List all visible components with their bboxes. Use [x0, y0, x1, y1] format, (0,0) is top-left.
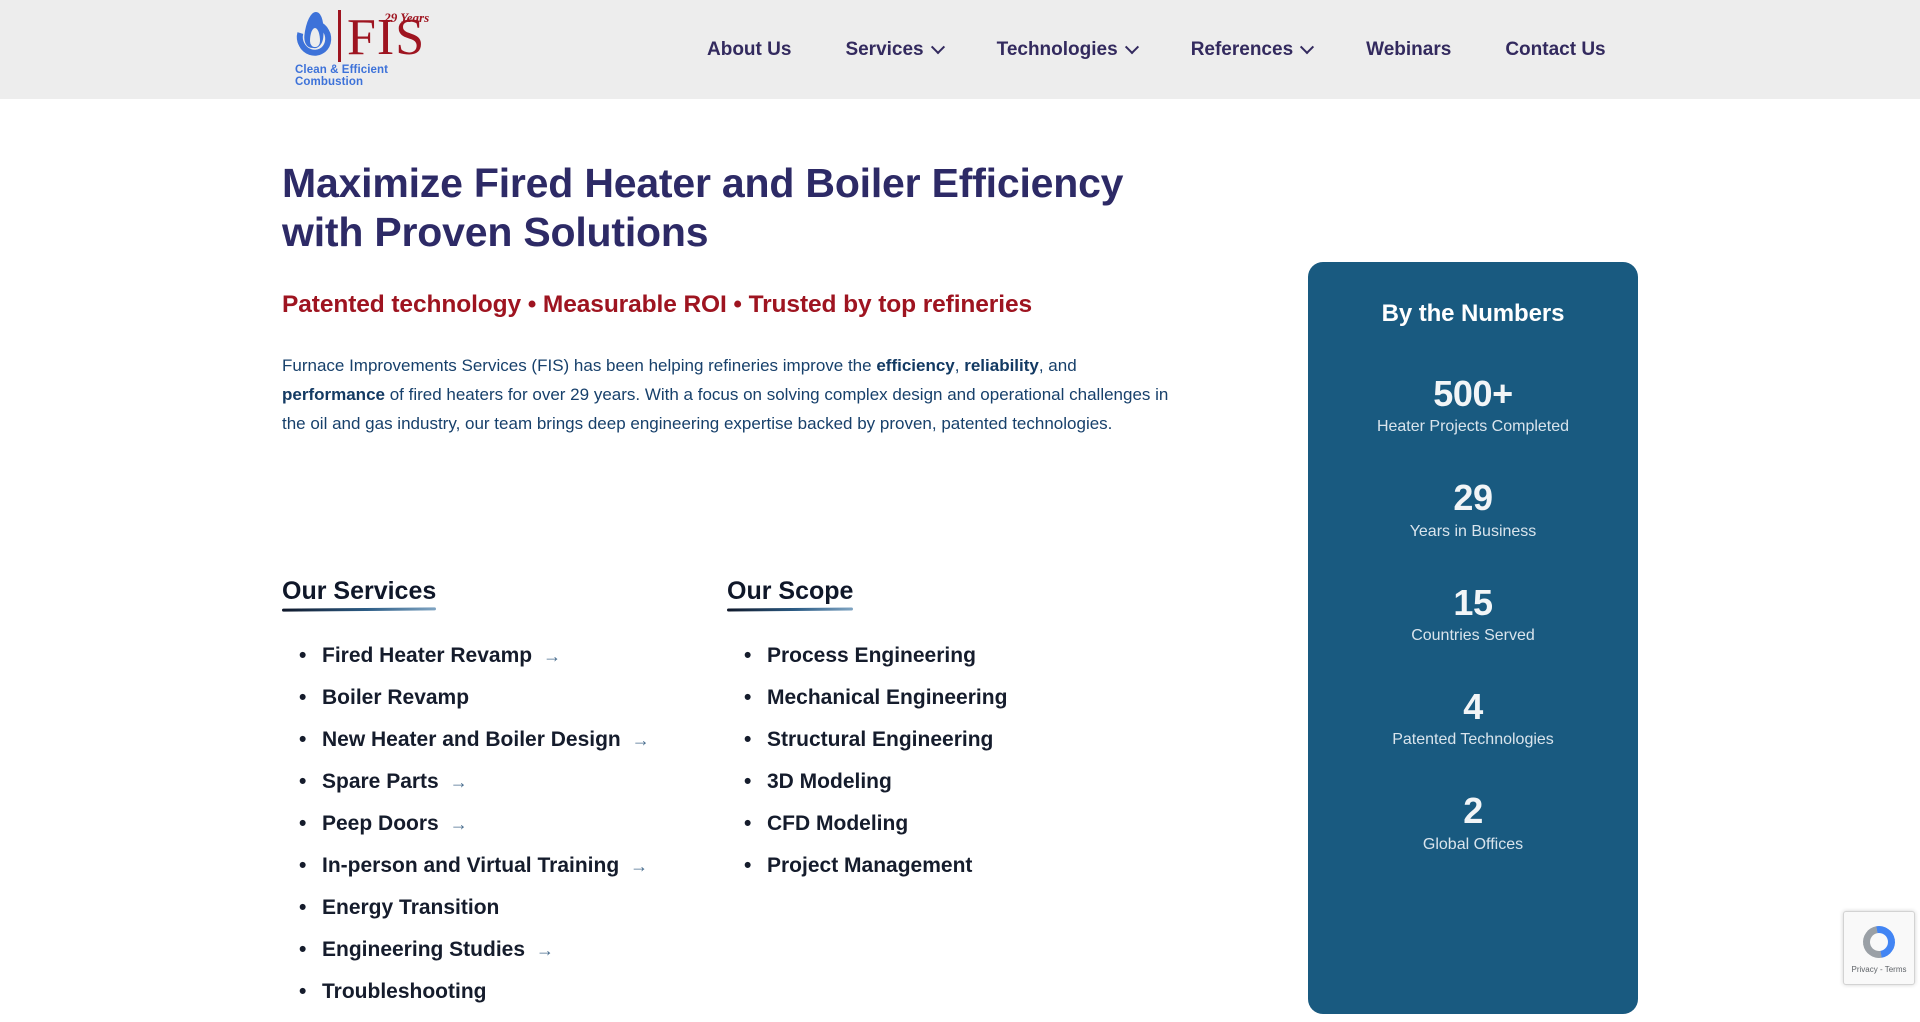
nav-label: References — [1191, 39, 1293, 61]
paragraph-text: , — [955, 356, 964, 375]
list-item: •Project Management — [744, 854, 1147, 878]
recaptcha-badge[interactable]: Privacy - Terms — [1843, 911, 1915, 985]
list-item: •Structural Engineering — [744, 728, 1147, 752]
lists-section: Our Services •Fired Heater Revamp→ •Boil… — [282, 577, 1182, 1022]
bullet-icon: • — [744, 729, 767, 750]
bullet-icon: • — [744, 687, 767, 708]
stat-global-offices: 2 Global Offices — [1328, 791, 1618, 853]
nav-label: Technologies — [997, 39, 1118, 61]
nav-item-contact-us[interactable]: Contact Us — [1478, 39, 1632, 61]
chevron-down-icon — [1300, 40, 1314, 54]
paragraph-text: of fired heaters for over 29 years. With… — [282, 385, 1168, 433]
arrow-right-icon: → — [536, 940, 554, 961]
paragraph-bold-performance: performance — [282, 385, 385, 404]
nav-label: Services — [845, 39, 923, 61]
bullet-icon: • — [744, 645, 767, 666]
bullet-icon: • — [299, 897, 322, 918]
stat-countries-served: 15 Countries Served — [1328, 583, 1618, 645]
paragraph-text: Furnace Improvements Services (FIS) has … — [282, 356, 876, 375]
bullet-icon: • — [299, 813, 322, 834]
nav-label: Contact Us — [1505, 39, 1605, 61]
list-item[interactable]: •Troubleshooting — [299, 980, 702, 1004]
list-item[interactable]: •Boiler Revamp — [299, 686, 702, 710]
list-item: •CFD Modeling — [744, 812, 1147, 836]
arrow-right-icon: → — [632, 730, 650, 751]
stat-label: Patented Technologies — [1328, 731, 1618, 749]
list-item-label: Project Management — [767, 854, 972, 878]
list-item[interactable]: •Energy Transition — [299, 896, 702, 920]
list-item-label: New Heater and Boiler Design — [322, 728, 621, 752]
list-item[interactable]: •Engineering Studies→ — [299, 938, 702, 962]
arrow-right-icon: → — [543, 646, 561, 667]
chevron-down-icon — [931, 40, 945, 54]
list-item[interactable]: •Fired Heater Revamp→ — [299, 644, 702, 668]
logo-divider — [338, 10, 341, 62]
stat-value: 2 — [1328, 791, 1618, 831]
list-item-label: Fired Heater Revamp — [322, 644, 532, 668]
scope-heading: Our Scope — [727, 577, 853, 611]
list-item: •Mechanical Engineering — [744, 686, 1147, 710]
stat-value: 4 — [1328, 687, 1618, 727]
stat-heater-projects: 500+ Heater Projects Completed — [1328, 374, 1618, 436]
main-navigation: About Us Services Technologies Reference… — [680, 0, 1633, 99]
paragraph-bold-reliability: reliability — [964, 356, 1039, 375]
recaptcha-privacy-terms[interactable]: Privacy - Terms — [1852, 965, 1907, 974]
nav-item-services[interactable]: Services — [818, 39, 969, 61]
list-item-label: Energy Transition — [322, 896, 499, 920]
nav-label: About Us — [707, 39, 791, 61]
paragraph-bold-efficiency: efficiency — [876, 356, 954, 375]
arrow-right-icon: → — [450, 814, 468, 835]
nav-item-technologies[interactable]: Technologies — [970, 39, 1164, 61]
bullet-icon: • — [299, 729, 322, 750]
stat-label: Heater Projects Completed — [1328, 418, 1618, 436]
page-title: Maximize Fired Heater and Boiler Efficie… — [282, 159, 1182, 257]
list-item-label: Spare Parts — [322, 770, 439, 794]
stat-label: Years in Business — [1328, 523, 1618, 541]
logo-mark: 29 Years FIS — [295, 8, 425, 62]
chevron-down-icon — [1125, 40, 1139, 54]
list-item-label: In-person and Virtual Training — [322, 854, 619, 878]
list-item[interactable]: •New Heater and Boiler Design→ — [299, 728, 702, 752]
list-item-label: Process Engineering — [767, 644, 976, 668]
list-item-label: Mechanical Engineering — [767, 686, 1007, 710]
arrow-right-icon: → — [630, 856, 648, 877]
list-item-label: CFD Modeling — [767, 812, 908, 836]
bullet-icon: • — [299, 687, 322, 708]
list-item-label: Structural Engineering — [767, 728, 993, 752]
list-item: •Process Engineering — [744, 644, 1147, 668]
nav-label: Webinars — [1366, 39, 1451, 61]
list-item-label: Boiler Revamp — [322, 686, 469, 710]
nav-item-about-us[interactable]: About Us — [680, 39, 818, 61]
services-heading: Our Services — [282, 577, 436, 611]
recaptcha-icon — [1861, 924, 1897, 960]
list-item[interactable]: •Peep Doors→ — [299, 812, 702, 836]
scope-list: •Process Engineering •Mechanical Enginee… — [744, 644, 1147, 878]
stats-card-title: By the Numbers — [1328, 300, 1618, 328]
stats-card: By the Numbers 500+ Heater Projects Comp… — [1308, 262, 1638, 1014]
stat-value: 15 — [1328, 583, 1618, 623]
list-item[interactable]: •In-person and Virtual Training→ — [299, 854, 702, 878]
stat-label: Countries Served — [1328, 627, 1618, 645]
nav-item-webinars[interactable]: Webinars — [1339, 39, 1478, 61]
stat-patented-technologies: 4 Patented Technologies — [1328, 687, 1618, 749]
hero-text-block: Maximize Fired Heater and Boiler Efficie… — [282, 159, 1182, 439]
services-column: Our Services •Fired Heater Revamp→ •Boil… — [282, 577, 702, 1022]
site-logo[interactable]: 29 Years FIS Clean & Efficient Combustio… — [295, 8, 430, 88]
list-item: •3D Modeling — [744, 770, 1147, 794]
scope-column: Our Scope •Process Engineering •Mechanic… — [727, 577, 1147, 1022]
bullet-icon: • — [299, 939, 322, 960]
list-item-label: Engineering Studies — [322, 938, 525, 962]
bullet-icon: • — [299, 981, 322, 1002]
bullet-icon: • — [744, 813, 767, 834]
nav-item-references[interactable]: References — [1164, 39, 1339, 61]
list-item-label: Troubleshooting — [322, 980, 486, 1004]
stat-value: 500+ — [1328, 374, 1618, 414]
list-item[interactable]: •Spare Parts→ — [299, 770, 702, 794]
arrow-right-icon: → — [450, 772, 468, 793]
bullet-icon: • — [744, 771, 767, 792]
stat-value: 29 — [1328, 478, 1618, 518]
paragraph-text: , and — [1039, 356, 1077, 375]
bullet-icon: • — [744, 855, 767, 876]
main-content: Maximize Fired Heater and Boiler Efficie… — [0, 99, 1920, 993]
hero-subheading: Patented technology • Measurable ROI • T… — [282, 291, 1182, 319]
logo-tagline: Clean & Efficient Combustion — [295, 64, 430, 88]
list-item-label: Peep Doors — [322, 812, 439, 836]
flame-icon — [295, 10, 335, 62]
logo-years-badge: 29 Years — [384, 10, 429, 26]
bullet-icon: • — [299, 855, 322, 876]
bullet-icon: • — [299, 771, 322, 792]
list-item-label: 3D Modeling — [767, 770, 892, 794]
site-header: 29 Years FIS Clean & Efficient Combustio… — [0, 0, 1920, 99]
stat-years-in-business: 29 Years in Business — [1328, 478, 1618, 540]
services-list: •Fired Heater Revamp→ •Boiler Revamp •Ne… — [299, 644, 702, 1004]
stat-label: Global Offices — [1328, 836, 1618, 854]
hero-paragraph: Furnace Improvements Services (FIS) has … — [282, 351, 1177, 439]
bullet-icon: • — [299, 645, 322, 666]
